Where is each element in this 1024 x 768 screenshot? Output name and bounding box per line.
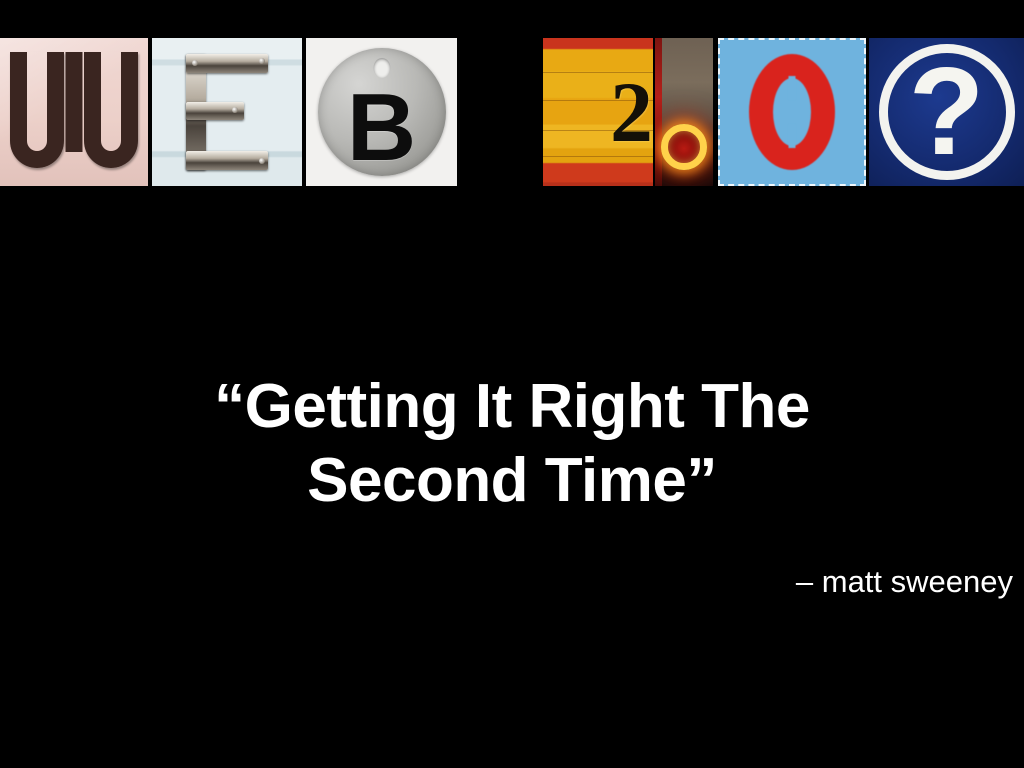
- quote-line-2: Second Time”: [62, 444, 962, 518]
- quote-line-1: “Getting It Right The: [62, 370, 962, 444]
- quote-attribution: – matt sweeney: [796, 563, 1013, 601]
- presentation-slide: W E B 2: [0, 0, 1024, 768]
- red-stencil-zero-tile: 0: [718, 38, 866, 186]
- slide-quote-title: “Getting It Right The Second Time”: [62, 370, 962, 518]
- blue-sign-question-mark-tile: ?: [869, 38, 1024, 186]
- glowing-ring-period-tile: .: [655, 38, 713, 186]
- two-tile-digit-text: 2: [543, 38, 653, 186]
- question-tile-symbol-text: ?: [869, 38, 1024, 186]
- painted-wood-2-tile: 2: [543, 38, 653, 186]
- letterpress-w-tile: W: [0, 38, 148, 186]
- b-tile-letter-text: B: [306, 38, 457, 186]
- metal-e-on-siding-tile: E: [152, 38, 302, 186]
- silver-tag-b-tile: B: [306, 38, 457, 186]
- web-2-0-photo-letter-banner: W E B 2: [0, 38, 1024, 186]
